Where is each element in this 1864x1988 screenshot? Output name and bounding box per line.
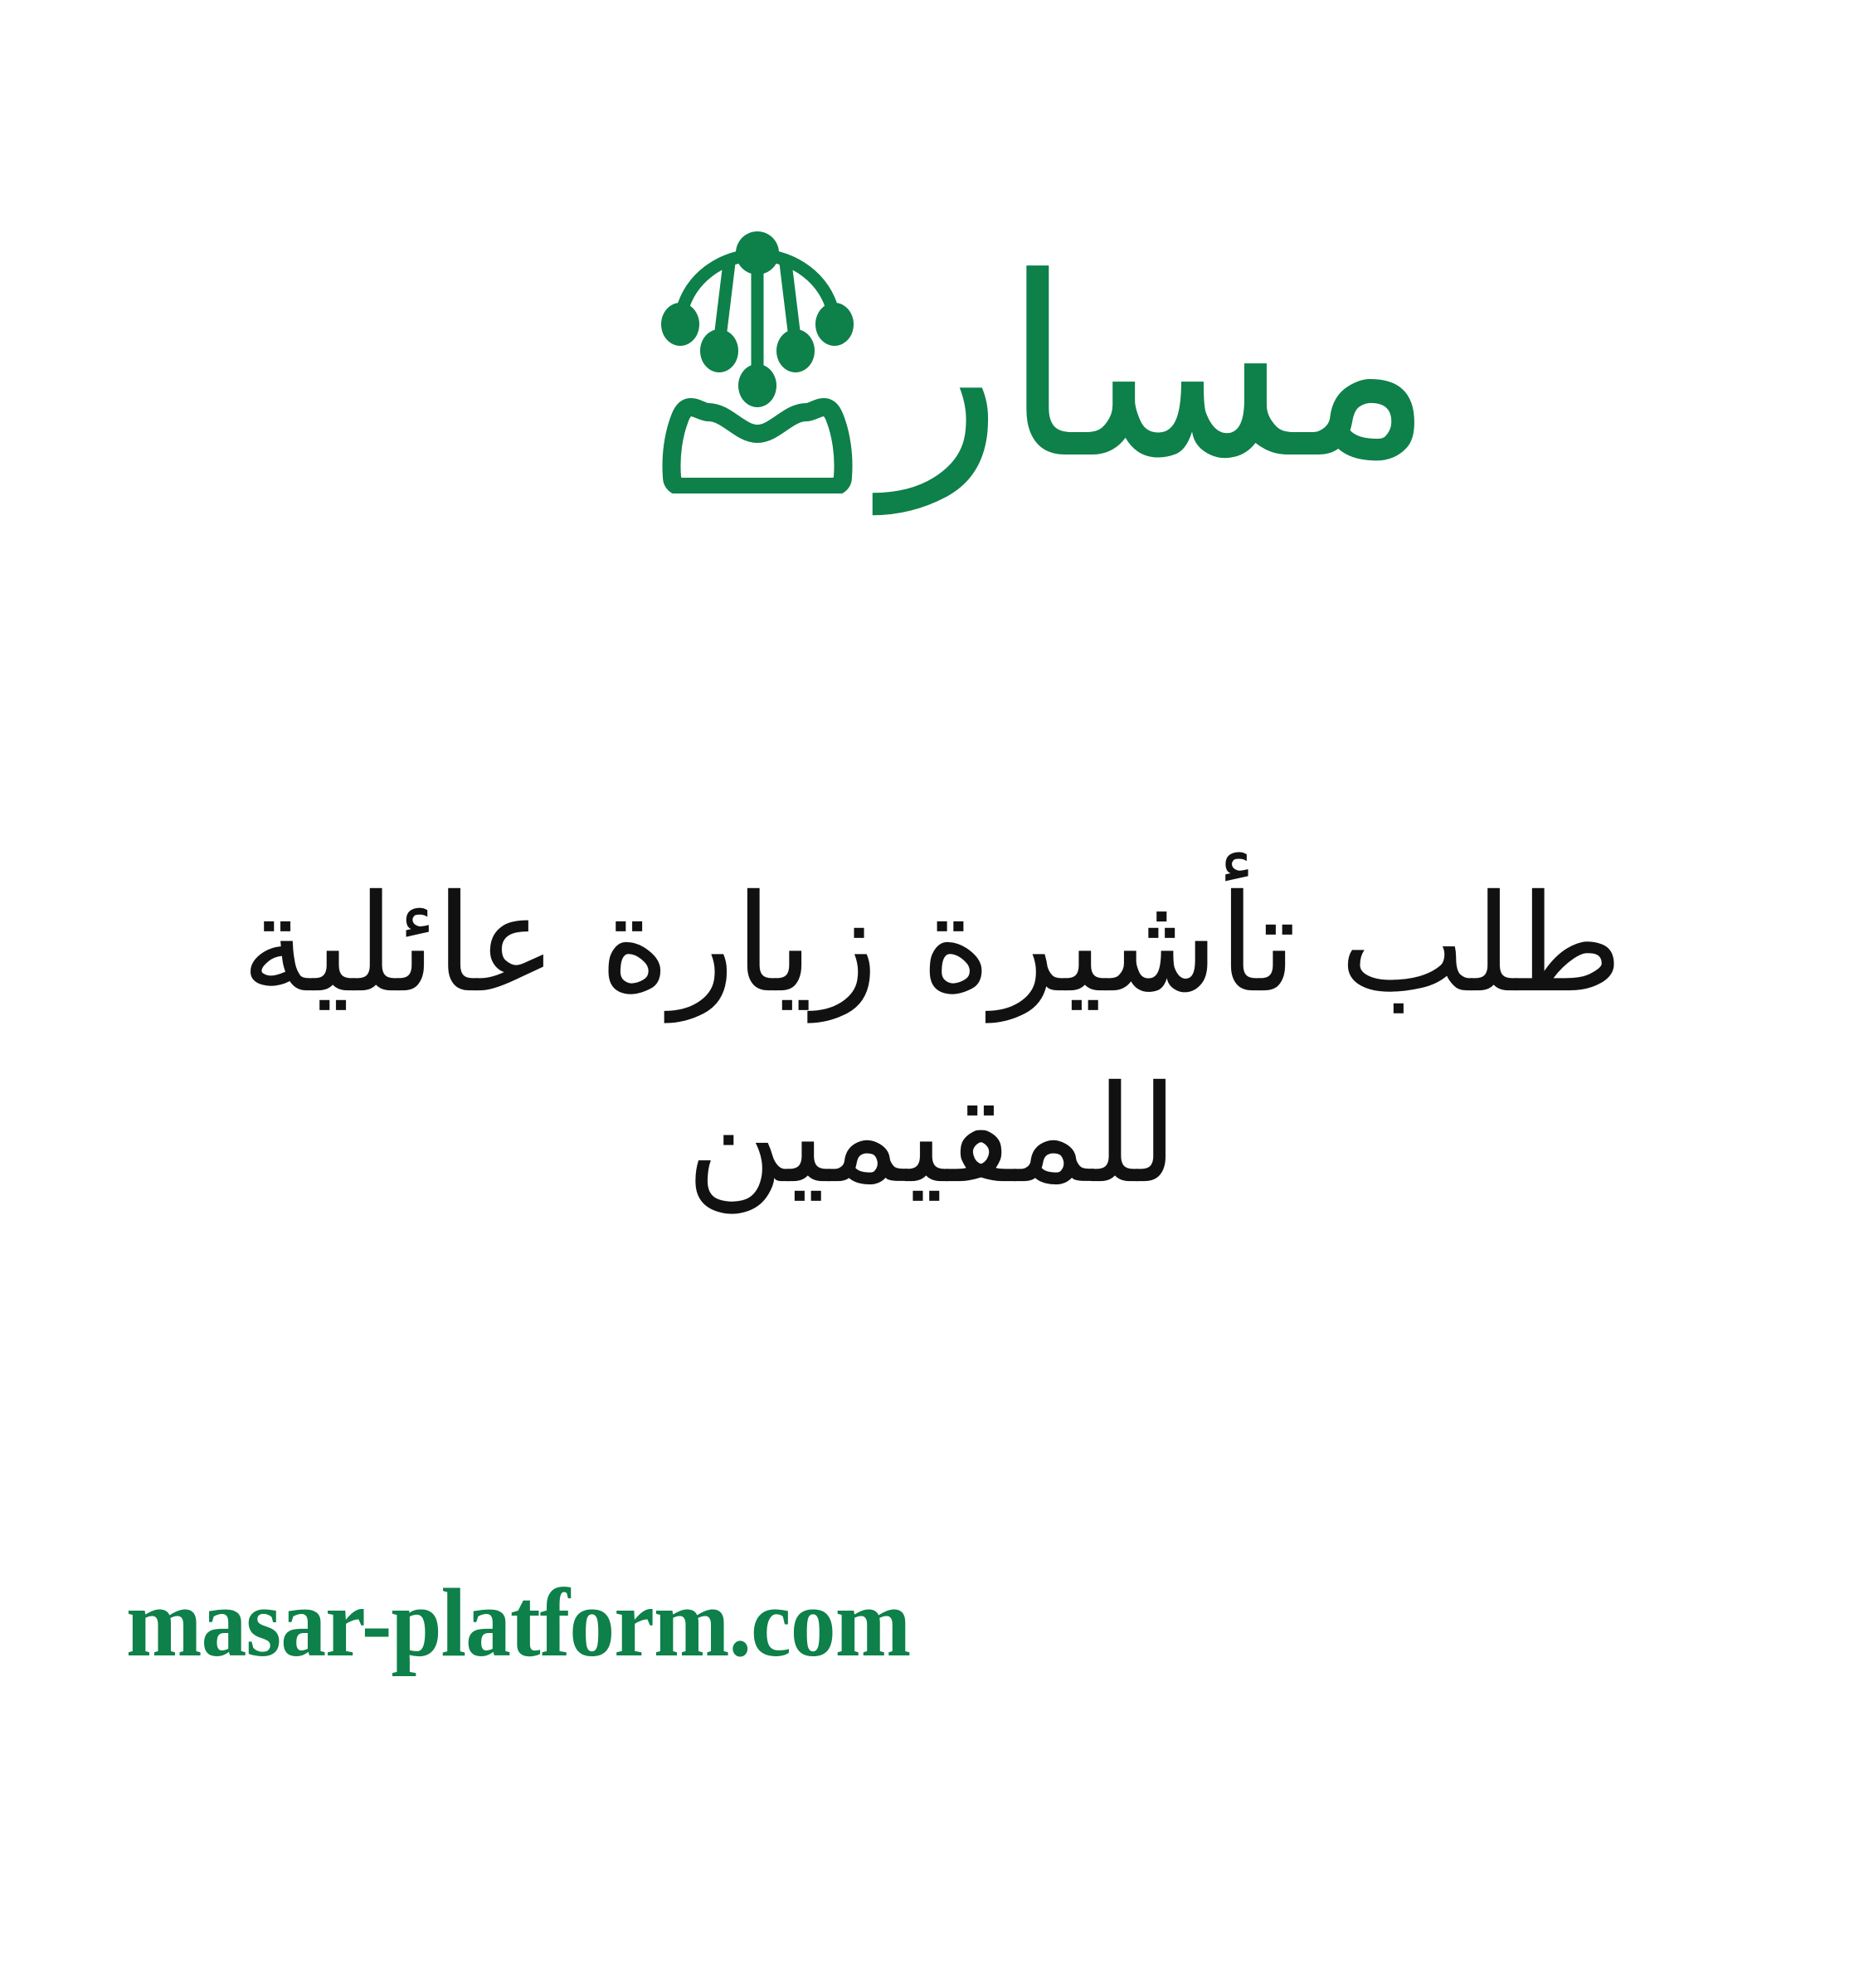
node-bottom-center <box>738 364 776 407</box>
node-outer-left <box>661 303 699 346</box>
brand-logo[interactable]: مسار <box>0 199 1864 514</box>
site-url[interactable]: masar-platform.com <box>126 1574 910 1672</box>
brand-wordmark: مسار <box>883 250 1434 487</box>
headline-container: طلب تأشيرة زيارة عائلية للمقيمين <box>0 759 1864 1320</box>
node-mid-left <box>700 329 738 372</box>
brand-mark <box>654 220 861 493</box>
node-outer-right <box>815 303 854 346</box>
basket-shape <box>672 407 844 487</box>
masar-network-basket-icon <box>654 220 861 493</box>
page-root: مسار <box>0 0 1864 1988</box>
hub-node <box>736 231 779 275</box>
page-title: طلب تأشيرة زيارة عائلية للمقيمين <box>227 849 1638 1231</box>
node-mid-right <box>776 329 815 372</box>
